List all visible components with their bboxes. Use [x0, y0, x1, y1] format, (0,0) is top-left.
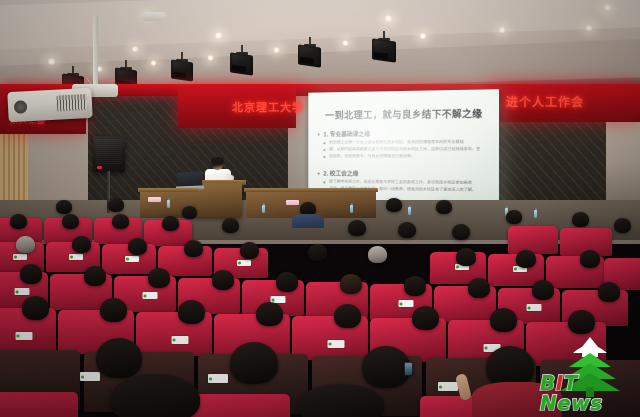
seat-number-label	[208, 374, 228, 383]
projector-vent	[57, 94, 88, 112]
audience-head	[340, 274, 362, 294]
audience-head	[614, 218, 631, 233]
seat-number-label	[527, 304, 542, 311]
seat-number-label	[69, 254, 83, 260]
auditorium-seat	[508, 226, 558, 254]
slide-bullet	[318, 134, 320, 136]
downlight	[214, 32, 223, 39]
audience-head-foreground	[96, 338, 142, 378]
stage-spotlight	[298, 37, 321, 66]
audience-head	[348, 220, 366, 236]
audience-head	[20, 264, 42, 284]
audience-head	[16, 236, 35, 253]
audience-head	[398, 222, 416, 238]
stage-table-edge-left	[138, 188, 198, 192]
slide-bullet	[323, 149, 325, 151]
audience-head	[162, 216, 179, 231]
seat-number-label	[125, 256, 139, 262]
audience-head	[276, 272, 298, 292]
seat-number-label	[399, 300, 414, 307]
seat-number-label	[16, 332, 33, 340]
seat-number-label	[328, 340, 345, 348]
downlight	[207, 55, 214, 61]
downlight	[47, 58, 56, 65]
audience-head	[368, 246, 387, 263]
slide-body-line: 课，从那时起每周都要往返于中关村校区与良乡校区之间，这种往返已经持续多年，甘	[329, 146, 480, 152]
slide-body-line: 除了教学任务之外，我还长期参与学校工会的各项工作，多次到良乡校区参加各类	[329, 179, 472, 186]
audience-head	[572, 212, 589, 227]
audience-head	[148, 268, 170, 288]
audience-head	[334, 304, 361, 328]
watermark-text: BIT News	[540, 373, 636, 413]
mobile-phone[interactable]	[404, 362, 413, 376]
audience-head	[240, 242, 259, 259]
audience-head	[580, 250, 600, 268]
audience-head	[212, 270, 234, 290]
audience-head	[22, 296, 49, 320]
seat-number-label	[438, 382, 458, 391]
downlight	[498, 27, 506, 33]
audience-head	[412, 306, 439, 330]
downlight	[419, 33, 427, 39]
led-banner-center-text: 北京理工大学	[232, 99, 304, 115]
audience-head	[56, 200, 72, 214]
audience-head	[490, 308, 517, 332]
downlight	[585, 25, 593, 31]
led-banner-right-text: 进个人工作会	[506, 93, 584, 110]
projector	[7, 88, 92, 122]
speaker-grill	[96, 139, 122, 164]
audience-head	[436, 200, 452, 214]
seat-number-label	[172, 336, 189, 344]
audience-head	[182, 206, 197, 219]
stage-spotlight	[230, 45, 253, 74]
speaker-power-led	[97, 166, 102, 169]
audience-head	[72, 236, 91, 253]
audience-head-foreground	[362, 346, 410, 388]
audience-head	[62, 214, 79, 229]
audience-head	[468, 278, 490, 298]
watermark-news: News	[540, 391, 603, 415]
downlight	[342, 40, 349, 46]
slide-section-heading: 1. 专业基础课之缘	[323, 129, 370, 138]
seat-number-label	[15, 288, 30, 295]
audience-head	[404, 276, 426, 296]
seat-number-label	[237, 260, 251, 266]
presenter-hair	[211, 157, 224, 164]
audience-shoulders	[292, 214, 324, 228]
audience-head	[516, 250, 536, 268]
stage-spotlight	[372, 31, 396, 61]
audience-head	[100, 298, 127, 322]
audience-head-foreground	[230, 342, 278, 384]
ceiling-diffuser	[142, 12, 166, 21]
downlight	[150, 60, 157, 66]
audience-head	[256, 302, 283, 326]
audience-head	[386, 198, 402, 212]
downlight	[131, 46, 139, 52]
audience-head	[178, 300, 205, 324]
seat-number-label	[13, 254, 27, 260]
downlight	[384, 15, 393, 22]
audience-head	[108, 198, 124, 212]
stage-spotlight	[171, 52, 193, 80]
audience-head	[532, 280, 554, 300]
downlight	[603, 4, 612, 11]
audience-head-foreground	[110, 374, 200, 417]
projector-pole-mount	[93, 16, 98, 90]
audience-head	[506, 210, 522, 224]
audience-head	[222, 218, 239, 233]
pa-speaker	[93, 136, 125, 172]
audience-head	[128, 238, 147, 255]
audience-head	[452, 224, 470, 240]
seat-number-label	[143, 292, 158, 299]
seat-number-label	[80, 372, 100, 381]
slide-bullet	[323, 181, 325, 183]
audience-head	[598, 282, 620, 302]
slide-body-line: 到北理工后第一次走上讲台就是在良乡校区，我承担的课程是本科的专业基础	[329, 139, 464, 145]
slide-bullet	[323, 156, 325, 158]
auditorium-photo: 宗大工部 北京理工大学 进个人工作会 一到北理工，就与良乡结下不解之缘 1. 专…	[0, 0, 640, 417]
slide-body-line: 苦自知，但收获颇丰，与良乡的情感也日渐深厚。	[329, 153, 415, 159]
slide-title: 一到北理工，就与良乡结下不解之缘	[317, 106, 492, 122]
audience-head	[308, 244, 327, 261]
audience-head	[184, 240, 203, 257]
slide-bullet	[318, 173, 320, 175]
slide-bullet	[323, 142, 325, 144]
audience-head	[84, 266, 106, 286]
downlight	[273, 47, 280, 53]
audience-head	[10, 214, 27, 229]
projector-lens-icon	[14, 100, 28, 114]
audience-head	[456, 248, 476, 266]
audience-head	[112, 214, 129, 229]
watermark: BIT News	[540, 331, 636, 415]
stage-table-edge-right	[244, 188, 378, 192]
auditorium-seat-cushion	[0, 392, 78, 417]
slide-section-heading: 2. 校工会之缘	[323, 169, 358, 178]
